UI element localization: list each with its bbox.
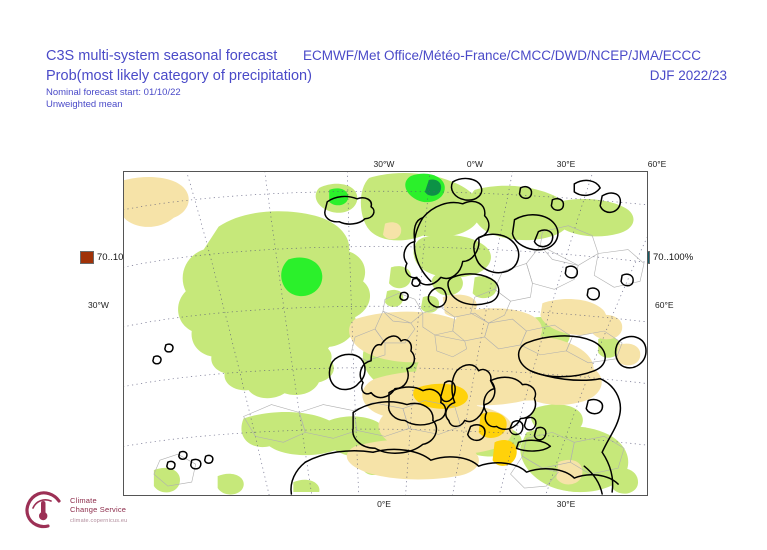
c3s-logo-icon: [22, 489, 66, 531]
logo-line2: Change Service: [70, 505, 126, 514]
page-title-line2: Prob(most likely category of precipitati…: [46, 68, 312, 84]
header: C3S multi-system seasonal forecast Prob(…: [0, 0, 767, 112]
forecast-period-label: DJF 2022/23: [650, 68, 727, 83]
map-tick-bottom-1: 30°E: [557, 499, 576, 509]
legend-label-8: 70..100%: [653, 252, 693, 263]
weighting-label: Unweighted mean: [46, 99, 123, 110]
map-tick-top-3: 60°E: [648, 159, 667, 169]
legend: <---- below lower tercile above upper te…: [0, 112, 767, 160]
forecast-map: [123, 171, 648, 496]
map-tick-left: 30°W: [88, 300, 109, 310]
map-tick-top-1: 0°W: [467, 159, 483, 169]
logo-line1: Climate: [70, 496, 97, 505]
map-tick-top-0: 30°W: [374, 159, 395, 169]
legend-swatch-0: [80, 251, 94, 264]
model-list-label: ECMWF/Met Office/Météo-France/CMCC/DWD/N…: [303, 48, 701, 63]
map-tick-right: 60°E: [655, 300, 674, 310]
page-title-line1: C3S multi-system seasonal forecast: [46, 48, 277, 64]
map-tick-top-2: 30°E: [557, 159, 576, 169]
copernicus-logo: Climate Change Service climate.copernicu…: [22, 487, 172, 537]
forecast-start-label: Nominal forecast start: 01/10/22: [46, 87, 181, 98]
map-tick-bottom-0: 0°E: [377, 499, 391, 509]
map-canvas: [124, 172, 647, 495]
forecast-page: C3S multi-system seasonal forecast Prob(…: [0, 0, 767, 550]
logo-url: climate.copernicus.eu: [70, 518, 127, 524]
